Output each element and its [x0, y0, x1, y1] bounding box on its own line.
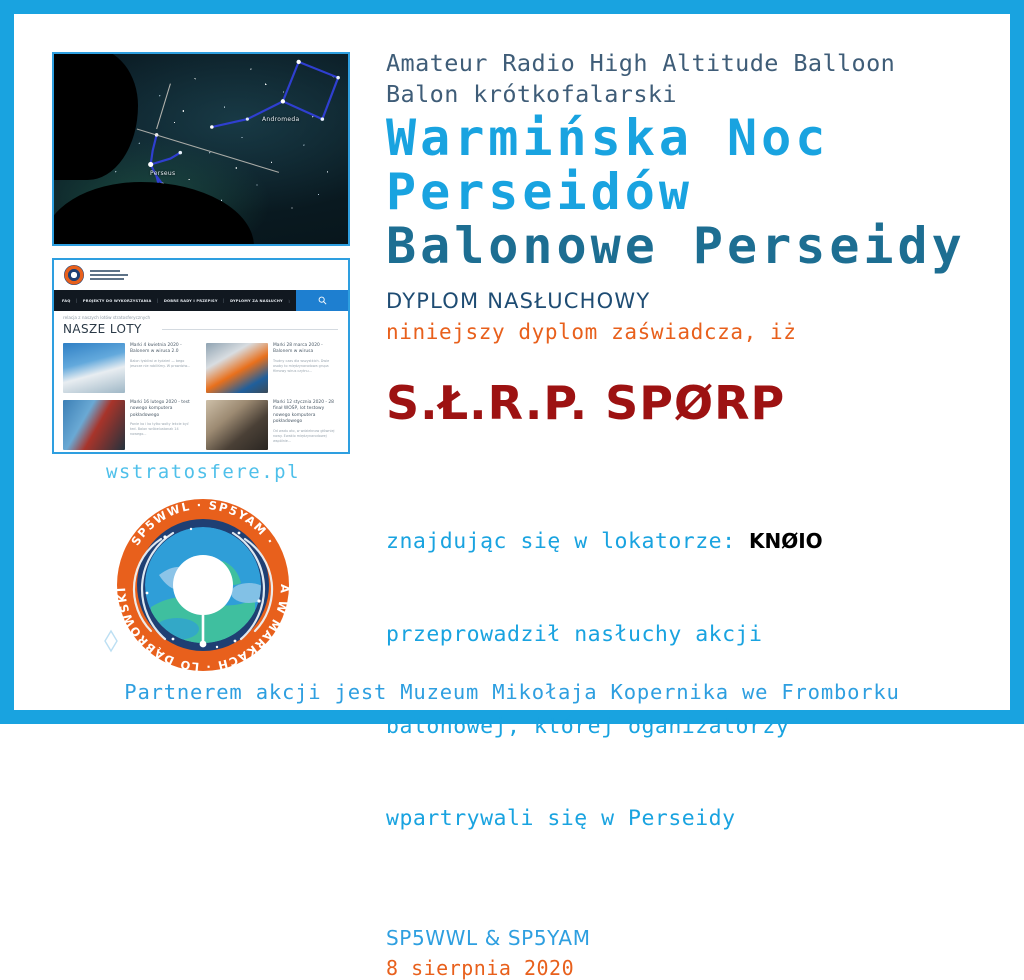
article-excerpt: Trudny czas dla wszystkich. Dwie osoby t…: [273, 359, 339, 374]
list-item[interactable]: Marki 12 stycznia 2020 - 28 finał WOŚP, …: [206, 400, 339, 450]
frame-border-left: [0, 0, 14, 724]
badge-graphic: SP5WWL · SP5YAM · KŁO MARKIEWICZA W MARK…: [99, 489, 307, 675]
recipient-callsign: S.Ł.R.P. SPØRP: [386, 376, 1011, 430]
site-navigation-bar: FAQ | PROJEKTY DO WYKORZYSTANIA | DOBRE …: [54, 290, 348, 311]
site-breadcrumb: relacja z naszych lotów stratosferycznyc…: [54, 311, 348, 320]
frame-border-right: [1010, 0, 1024, 724]
site-nav-item-1[interactable]: PROJEKTY DO WYKORZYSTANIA: [83, 299, 152, 303]
diploma-type-label: DYPLOM NASŁUCHOWY: [386, 289, 1011, 313]
constellation-label-andromeda: Andromeda: [262, 116, 299, 123]
page-title-line-3: Balonowe Perseidy: [386, 219, 1011, 273]
right-text-column: Amateur Radio High Altitude Balloon Balo…: [386, 48, 1011, 980]
page-title-line-1: Warmińska Noc: [386, 111, 1011, 165]
search-icon: [318, 296, 327, 305]
organizer-logo-badge: SP5WWL · SP5YAM · KŁO MARKIEWICZA W MARK…: [99, 489, 307, 675]
article-excerpt: Balon łyskliwi w tydzień — bego jeszcze …: [130, 359, 196, 369]
article-thumbnail: [63, 400, 125, 450]
site-nav-item-2[interactable]: DOBRE RADY I PRZEPISY: [164, 299, 218, 303]
badge-payload-dot: [200, 641, 207, 648]
article-title: Marki 16 lutego 2020 - test nowego kompu…: [130, 400, 196, 419]
article-excerpt: Od wadu oto, w wdzieknow główniej nowy. …: [273, 429, 339, 444]
website-screenshot: FAQ | PROJEKTY DO WYKORZYSTANIA | DOBRE …: [52, 258, 350, 454]
site-section-heading-text: NASZE LOTY: [63, 322, 142, 336]
site-logo-wordmark: [90, 270, 128, 280]
partner-footer-text: Partnerem akcji jest Muzeum Mikołaja Kop…: [0, 680, 1024, 704]
list-item[interactable]: Marki 4 kwietnia 2020 - Balonem w wirusa…: [63, 343, 196, 393]
sparkle-icon: [105, 631, 117, 651]
diploma-attestation: niniejszy dyplom zaświadcza, iż: [386, 320, 1011, 344]
article-thumbnail: [206, 343, 268, 393]
night-sky-photo: Andromeda Perseus: [52, 52, 350, 246]
nav-separator: |: [156, 298, 158, 303]
list-item[interactable]: Marki 28 marca 2020 - Balonem w wirusa T…: [206, 343, 339, 393]
site-article-grid: Marki 4 kwietnia 2020 - Balonem w wirusa…: [54, 336, 348, 450]
site-section-heading: NASZE LOTY: [54, 320, 348, 336]
list-item[interactable]: Marki 16 lutego 2020 - test nowego kompu…: [63, 400, 196, 450]
constellation-label-perseus: Perseus: [150, 170, 175, 177]
website-url: wstratosfere.pl: [52, 461, 354, 483]
site-logo-bar: [54, 260, 348, 290]
issue-date: 8 sierpnia 2020: [386, 956, 1011, 980]
nav-separator: |: [75, 298, 77, 303]
article-title: Marki 4 kwietnia 2020 - Balonem w wirusa…: [130, 343, 196, 356]
nav-arrow-shape: [283, 290, 296, 311]
site-search-button[interactable]: [296, 290, 348, 311]
diploma-body-line-2: balonowej, której oganizatorzy: [386, 712, 1011, 743]
article-thumbnail: [63, 343, 125, 393]
frame-border-top: [0, 0, 1024, 14]
signature-callsigns: SP5WWL & SP5YAM: [386, 926, 1011, 950]
locator-value: KNØIO: [749, 529, 823, 553]
page-title-line-2: Perseidów: [386, 165, 1011, 219]
locator-row: znajdując się w lokatorze: KNØIO: [386, 527, 1011, 558]
site-nav-item-0[interactable]: FAQ: [62, 299, 70, 303]
left-media-column: Andromeda Perseus FAQ | PROJEKTY DO WYKO…: [52, 52, 354, 675]
article-title: Marki 12 stycznia 2020 - 28 finał WOŚP, …: [273, 400, 339, 426]
site-logo-icon: [64, 265, 84, 285]
article-thumbnail: [206, 400, 268, 450]
badge-center-hole: [173, 555, 233, 615]
certificate-page: Andromeda Perseus FAQ | PROJEKTY DO WYKO…: [0, 0, 1024, 724]
locator-label: znajdując się w lokatorze:: [386, 529, 736, 554]
site-nav-item-3[interactable]: DYPLOMY ZA NASŁUCHY: [230, 299, 283, 303]
diploma-body-line-1: przeprowadził nasłuchy akcji: [386, 620, 1011, 651]
article-title: Marki 28 marca 2020 - Balonem w wirusa: [273, 343, 339, 356]
nav-separator: |: [223, 298, 225, 303]
article-excerpt: Panie ko i ko tylko wolty lekcie być ted…: [130, 422, 196, 437]
diploma-body-line-3: wpartrywali się w Perseidy: [386, 804, 1011, 835]
kicker-polish: Balon krótkofalarski: [386, 79, 1011, 110]
heading-rule: [162, 329, 338, 330]
kicker-english: Amateur Radio High Altitude Balloon: [386, 48, 1011, 79]
